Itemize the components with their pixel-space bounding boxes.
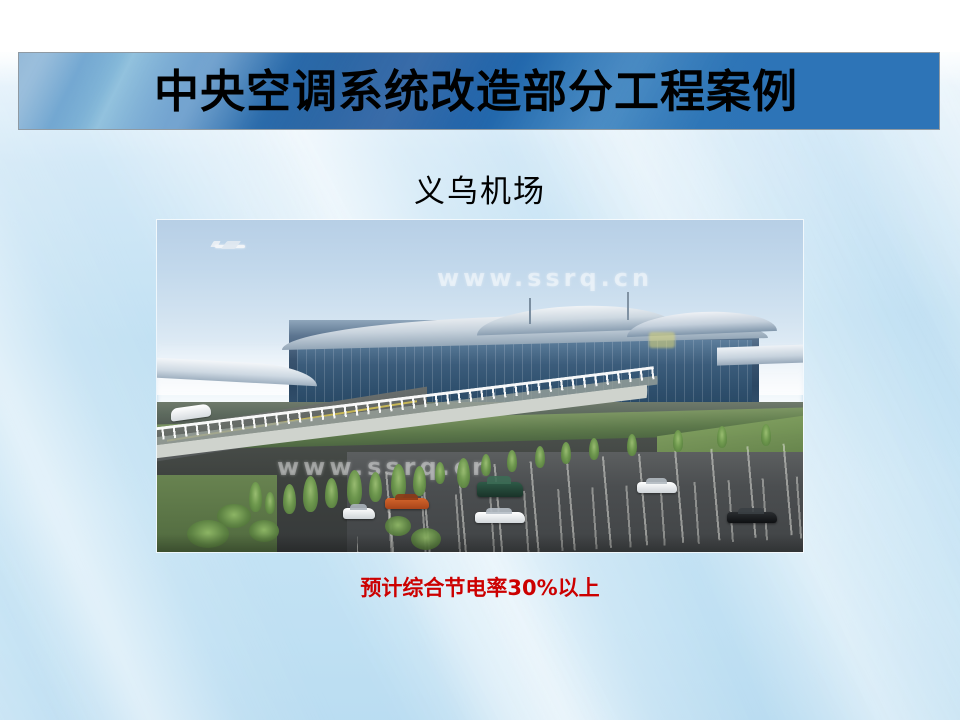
tree (627, 434, 637, 456)
shrub (385, 516, 411, 536)
tree (413, 466, 426, 496)
tree (435, 462, 445, 484)
airplane-icon (211, 241, 247, 251)
car-white-left (343, 508, 375, 519)
tree (717, 426, 727, 448)
tree (249, 482, 262, 512)
tree (369, 472, 382, 502)
car-darkgreen-suv (477, 482, 523, 497)
tree (325, 478, 338, 508)
photo-bottom-shadow (157, 534, 803, 552)
car-white-center (475, 512, 525, 523)
tree (761, 424, 771, 446)
slide-canvas: 中央空调系统改造部分工程案例 义乌机场 www.ssrq.cn w (0, 0, 960, 720)
car-white-right (637, 482, 677, 493)
tree (561, 442, 571, 464)
tree (265, 492, 275, 514)
airport-photo: www.ssrq.cn www.ssrq.cn (157, 220, 803, 552)
tree (535, 446, 545, 468)
antenna-mast-right (627, 292, 629, 320)
tree (457, 458, 470, 488)
energy-saving-caption: 预计综合节电率30%以上 (0, 572, 960, 602)
watermark-top: www.ssrq.cn (437, 264, 653, 292)
tree (303, 476, 318, 512)
terminal-logo-sign (649, 332, 675, 348)
title-banner: 中央空调系统改造部分工程案例 (18, 52, 940, 130)
page-title: 中央空调系统改造部分工程案例 (154, 69, 798, 114)
tree (481, 454, 491, 476)
car-orange (385, 498, 429, 509)
car-black (727, 512, 777, 523)
tree (673, 430, 683, 452)
tree (507, 450, 517, 472)
antenna-mast-left (529, 298, 531, 324)
tree (283, 484, 296, 514)
terminal-canopy-right (717, 344, 803, 365)
subtitle-venue-name: 义乌机场 (0, 166, 960, 211)
top-white-margin (0, 0, 960, 52)
tree (589, 438, 599, 460)
tree (347, 470, 362, 506)
